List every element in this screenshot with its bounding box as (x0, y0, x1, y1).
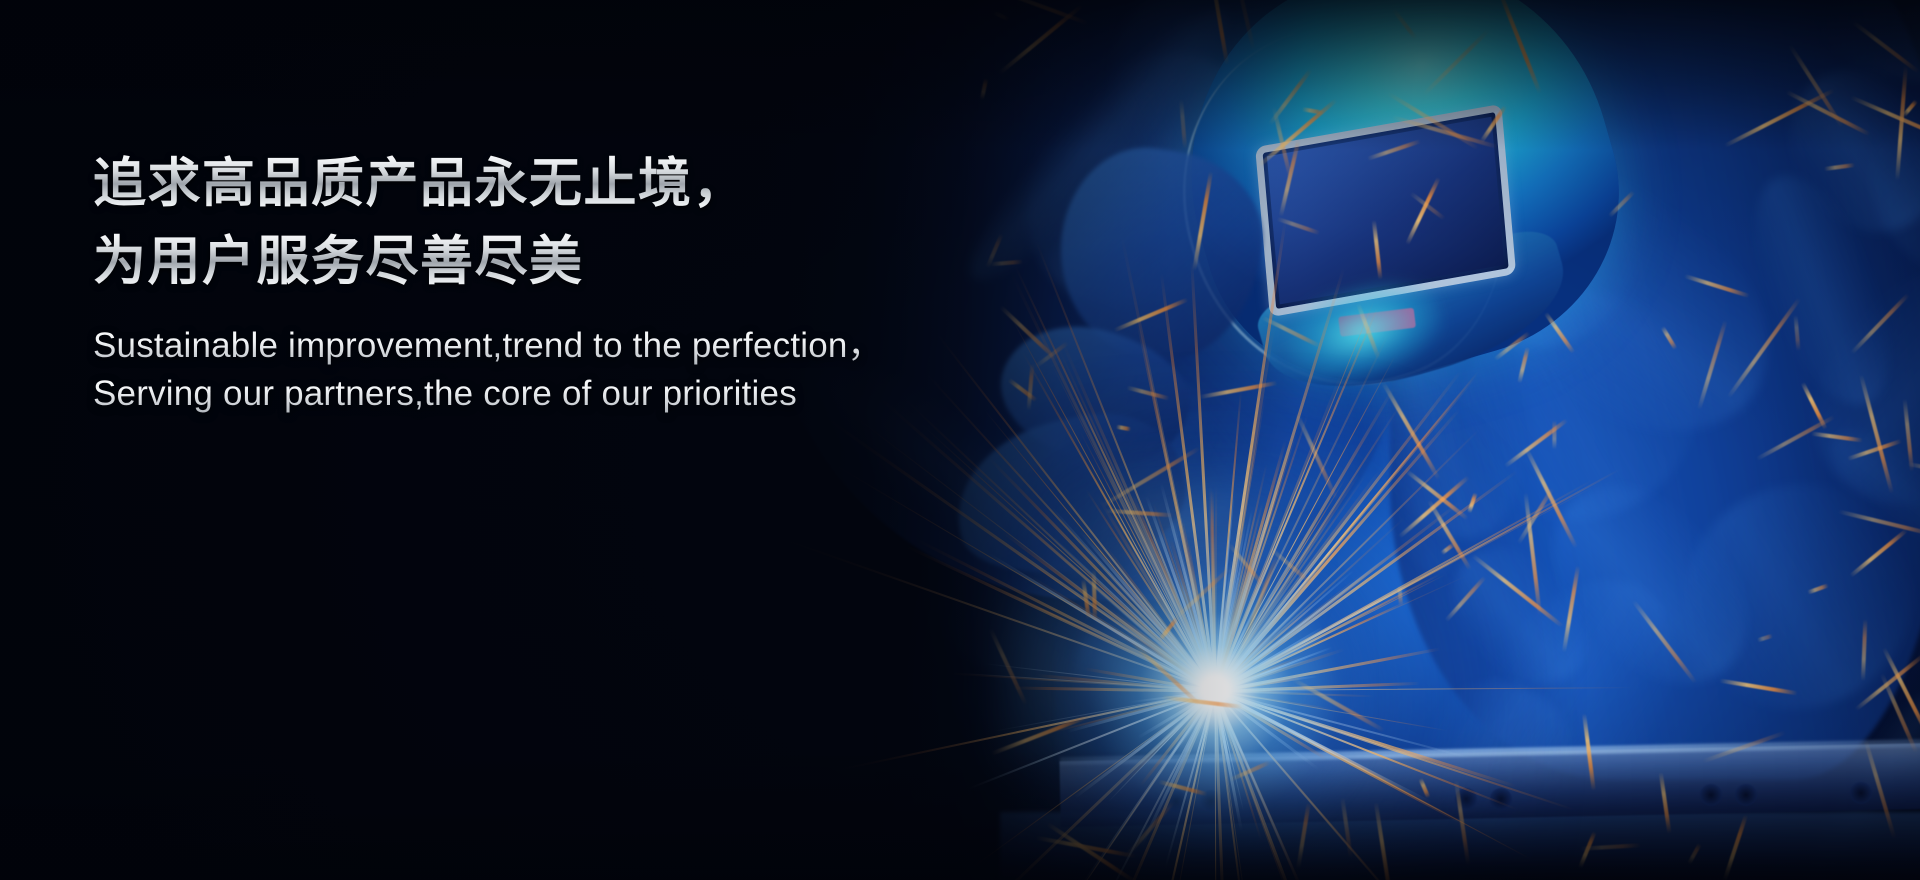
bolt-hole (1700, 784, 1722, 806)
subtitle-line-1: Sustainable improvement,trend to the per… (93, 322, 993, 370)
bolt-hole (1850, 782, 1872, 804)
hero-copy: 追求高品质产品永无止境， 为用户服务尽善尽美 Sustainable impro… (93, 146, 993, 418)
ember (1552, 421, 1556, 450)
headline-line-1: 追求高品质产品永无止境， (93, 146, 993, 222)
bolt-hole (1735, 784, 1757, 806)
welding-photo (0, 0, 1920, 880)
headline-line-2: 为用户服务尽善尽美 (93, 224, 993, 300)
subtitle-line-2: Serving our partners,the core of our pri… (93, 370, 993, 418)
hero-banner: 追求高品质产品永无止境， 为用户服务尽善尽美 Sustainable impro… (0, 0, 1920, 880)
